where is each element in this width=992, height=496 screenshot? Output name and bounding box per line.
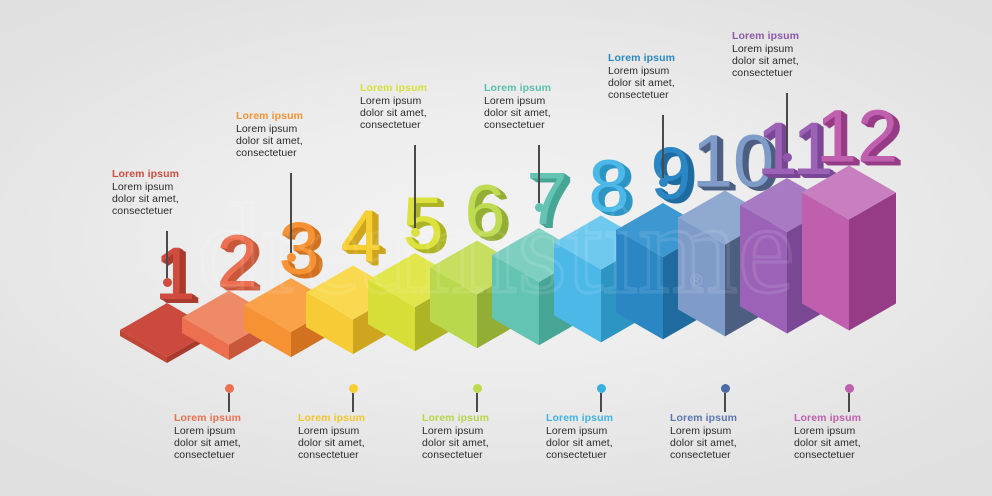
callout-title: Lorem ipsum	[546, 412, 672, 425]
callout-label-6[interactable]: Lorem ipsumLorem ipsumdolor sit amet,con…	[422, 412, 548, 462]
connector-9	[651, 115, 675, 187]
connector-7	[527, 145, 551, 212]
callout-body-line: consectetuer	[174, 449, 300, 461]
callout-body: Lorem ipsumdolor sit amet,consectetuer	[608, 65, 734, 102]
svg-text:2: 2	[216, 220, 257, 303]
callout-body-line: consectetuer	[484, 119, 610, 131]
connector-stem	[662, 115, 663, 178]
callout-body-line: Lorem ipsum	[236, 123, 362, 135]
connector-10	[713, 384, 737, 412]
connector-stem	[166, 231, 167, 278]
connector-8	[589, 384, 613, 412]
connector-3	[279, 173, 303, 262]
callout-body-line: consectetuer	[422, 449, 548, 461]
callout-body-line: consectetuer	[546, 449, 672, 461]
connector-2	[217, 384, 241, 412]
callout-body-line: Lorem ipsum	[174, 425, 300, 437]
callout-body: Lorem ipsumdolor sit amet,consectetuer	[236, 123, 362, 160]
connector-stem	[786, 93, 787, 153]
connector-12	[837, 384, 861, 412]
step-bar[interactable]	[802, 166, 896, 331]
svg-text:8: 8	[588, 145, 629, 228]
connector-stem	[414, 145, 415, 228]
svg-text:4: 4	[340, 195, 381, 278]
callout-body: Lorem ipsumdolor sit amet,consectetuer	[484, 95, 610, 132]
callout-body-line: dolor sit amet,	[484, 107, 610, 119]
callout-body-line: dolor sit amet,	[546, 437, 672, 449]
connector-dot	[597, 384, 606, 393]
step-number: 88888888	[588, 145, 635, 232]
callout-label-1[interactable]: Lorem ipsumLorem ipsumdolor sit amet,con…	[112, 168, 238, 218]
callout-body-line: dolor sit amet,	[670, 437, 796, 449]
connector-stem	[724, 393, 725, 412]
svg-text:6: 6	[464, 170, 505, 253]
connector-6	[465, 384, 489, 412]
callout-body-line: Lorem ipsum	[422, 425, 548, 437]
callout-body-line: consectetuer	[732, 67, 858, 79]
svg-text:12: 12	[816, 95, 898, 178]
callout-body-line: consectetuer	[670, 449, 796, 461]
connector-dot	[225, 384, 234, 393]
callout-body-line: dolor sit amet,	[174, 437, 300, 449]
callout-body-line: consectetuer	[608, 89, 734, 101]
callout-title: Lorem ipsum	[236, 110, 362, 123]
connector-dot	[163, 278, 172, 287]
connector-dot	[411, 228, 420, 237]
callout-body: Lorem ipsumdolor sit amet,consectetuer	[794, 425, 920, 462]
callout-label-12[interactable]: Lorem ipsumLorem ipsumdolor sit amet,con…	[794, 412, 920, 462]
connector-stem	[600, 393, 601, 412]
callout-title: Lorem ipsum	[670, 412, 796, 425]
connector-dot	[473, 384, 482, 393]
callout-body-line: consectetuer	[236, 147, 362, 159]
callout-body: Lorem ipsumdolor sit amet,consectetuer	[298, 425, 424, 462]
connector-stem	[352, 393, 353, 412]
callout-title: Lorem ipsum	[484, 82, 610, 95]
connector-11	[775, 93, 799, 162]
connector-dot	[349, 384, 358, 393]
connector-1	[155, 231, 179, 287]
callout-body: Lorem ipsumdolor sit amet,consectetuer	[732, 43, 858, 80]
callout-body-line: dolor sit amet,	[236, 135, 362, 147]
callout-label-3[interactable]: Lorem ipsumLorem ipsumdolor sit amet,con…	[236, 110, 362, 160]
connector-4	[341, 384, 365, 412]
callout-label-2[interactable]: Lorem ipsumLorem ipsumdolor sit amet,con…	[174, 412, 300, 462]
callout-body: Lorem ipsumdolor sit amet,consectetuer	[670, 425, 796, 462]
callout-body-line: dolor sit amet,	[608, 77, 734, 89]
callout-body-line: Lorem ipsum	[608, 65, 734, 77]
connector-dot	[659, 178, 668, 187]
step-number: 66666666	[464, 170, 511, 257]
connector-stem	[228, 393, 229, 412]
callout-body-line: Lorem ipsum	[794, 425, 920, 437]
callout-body-line: Lorem ipsum	[484, 95, 610, 107]
callout-title: Lorem ipsum	[112, 168, 238, 181]
step-number: 22222222	[216, 220, 263, 307]
callout-body: Lorem ipsumdolor sit amet,consectetuer	[360, 95, 486, 132]
callout-title: Lorem ipsum	[360, 82, 486, 95]
callout-body-line: dolor sit amet,	[732, 55, 858, 67]
callout-body-line: consectetuer	[360, 119, 486, 131]
callout-label-9[interactable]: Lorem ipsumLorem ipsumdolor sit amet,con…	[608, 52, 734, 102]
callout-body-line: dolor sit amet,	[112, 193, 238, 205]
infographic-canvas: 1111111122222222333333334444444455555555…	[0, 0, 992, 496]
connector-stem	[290, 173, 291, 253]
callout-body-line: dolor sit amet,	[360, 107, 486, 119]
connector-stem	[848, 393, 849, 412]
callout-title: Lorem ipsum	[298, 412, 424, 425]
connector-dot	[721, 384, 730, 393]
callout-label-8[interactable]: Lorem ipsumLorem ipsumdolor sit amet,con…	[546, 412, 672, 462]
callout-label-7[interactable]: Lorem ipsumLorem ipsumdolor sit amet,con…	[484, 82, 610, 132]
callout-label-4[interactable]: Lorem ipsumLorem ipsumdolor sit amet,con…	[298, 412, 424, 462]
connector-dot	[535, 203, 544, 212]
callout-body-line: dolor sit amet,	[794, 437, 920, 449]
callout-label-10[interactable]: Lorem ipsumLorem ipsumdolor sit amet,con…	[670, 412, 796, 462]
callout-title: Lorem ipsum	[608, 52, 734, 65]
callout-title: Lorem ipsum	[732, 30, 858, 43]
callout-body-line: consectetuer	[298, 449, 424, 461]
callout-body: Lorem ipsumdolor sit amet,consectetuer	[112, 181, 238, 218]
callout-label-11[interactable]: Lorem ipsumLorem ipsumdolor sit amet,con…	[732, 30, 858, 80]
step-number: 1212121212121212	[816, 95, 905, 182]
callout-title: Lorem ipsum	[422, 412, 548, 425]
callout-body: Lorem ipsumdolor sit amet,consectetuer	[174, 425, 300, 462]
step-number: 44444444	[340, 195, 387, 282]
callout-title: Lorem ipsum	[174, 412, 300, 425]
callout-body-line: dolor sit amet,	[422, 437, 548, 449]
callout-body-line: dolor sit amet,	[298, 437, 424, 449]
callout-body-line: Lorem ipsum	[112, 181, 238, 193]
callout-body-line: Lorem ipsum	[546, 425, 672, 437]
callout-body-line: Lorem ipsum	[732, 43, 858, 55]
connector-dot	[845, 384, 854, 393]
callout-body-line: Lorem ipsum	[298, 425, 424, 437]
callout-label-5[interactable]: Lorem ipsumLorem ipsumdolor sit amet,con…	[360, 82, 486, 132]
connector-5	[403, 145, 427, 237]
callout-body-line: consectetuer	[112, 205, 238, 217]
callout-body-line: Lorem ipsum	[360, 95, 486, 107]
callout-body-line: consectetuer	[794, 449, 920, 461]
callout-title: Lorem ipsum	[794, 412, 920, 425]
connector-stem	[538, 145, 539, 203]
connector-stem	[476, 393, 477, 412]
callout-body: Lorem ipsumdolor sit amet,consectetuer	[422, 425, 548, 462]
connector-dot	[287, 253, 296, 262]
connector-dot	[783, 153, 792, 162]
callout-body: Lorem ipsumdolor sit amet,consectetuer	[546, 425, 672, 462]
callout-body-line: Lorem ipsum	[670, 425, 796, 437]
